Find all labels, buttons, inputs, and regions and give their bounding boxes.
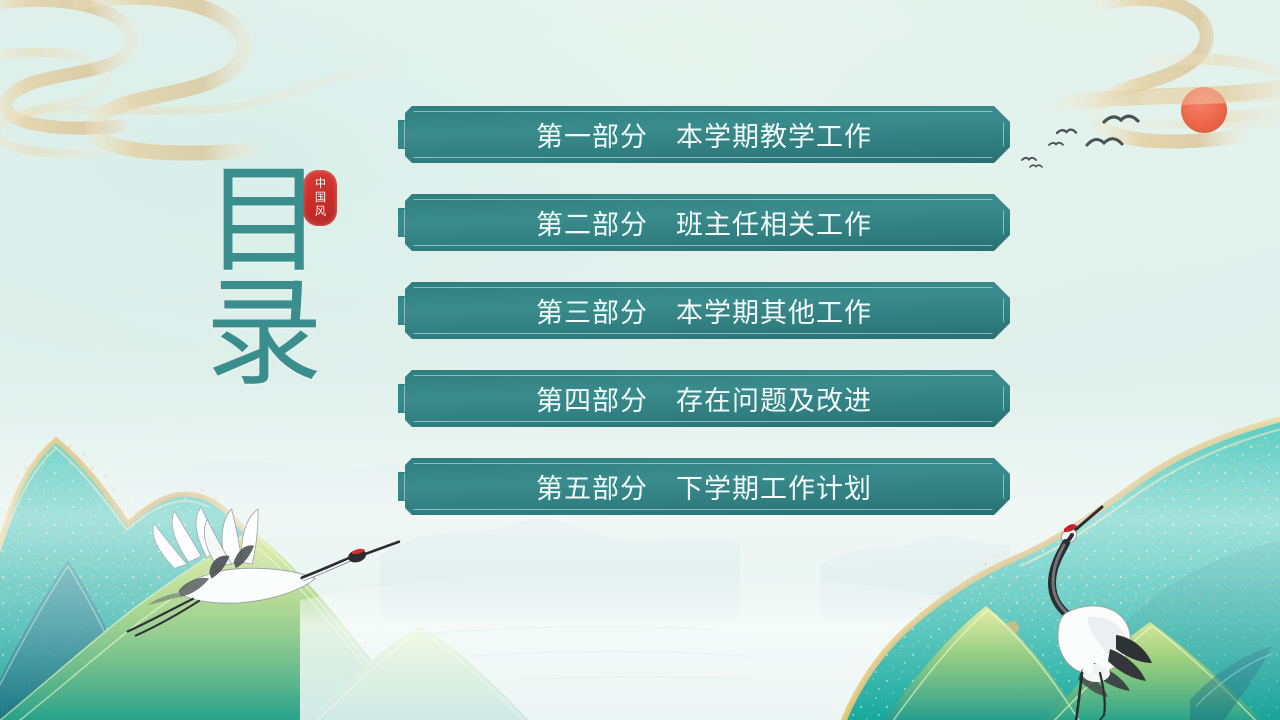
menu-item-3-label: 第三部分 本学期其他工作 [536,291,872,330]
seal-char-2: 国 [314,192,325,203]
contents-menu: 第一部分 本学期教学工作 第二部分 班主任相关工作 第三部分 本学期其他工作 第… [398,106,1010,546]
menu-item-4[interactable]: 第四部分 存在问题及改进 [398,370,1010,427]
menu-item-1-label: 第一部分 本学期教学工作 [536,115,872,154]
title-char-2: 录 [150,278,380,391]
menu-item-2[interactable]: 第二部分 班主任相关工作 [398,194,1010,251]
menu-item-5[interactable]: 第五部分 下学期工作计划 [398,458,1010,515]
menu-item-4-label: 第四部分 存在问题及改进 [536,379,872,418]
title-char-1: 目 [150,165,380,278]
chinese-style-seal-stamp: 中 国 风 [303,170,337,226]
seal-char-3: 风 [314,206,325,217]
menu-item-1[interactable]: 第一部分 本学期教学工作 [398,106,1010,163]
menu-item-3[interactable]: 第三部分 本学期其他工作 [398,282,1010,339]
seal-char-1: 中 [314,178,325,189]
slide-canvas: 目 录 中 国 风 第一部分 本学期教学工作 第二部分 班主任相关工作 第三部分… [0,0,1280,720]
menu-item-5-label: 第五部分 下学期工作计划 [536,467,872,506]
menu-item-2-label: 第二部分 班主任相关工作 [536,203,872,242]
page-title: 目 录 中 国 风 [150,165,380,392]
